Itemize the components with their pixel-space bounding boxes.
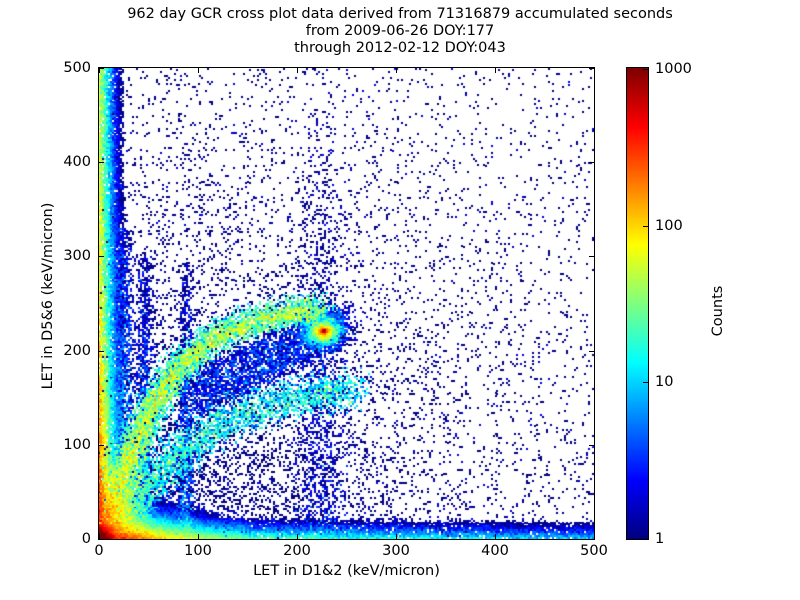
x-tick-mark	[198, 68, 199, 73]
x-tick-label: 300	[382, 543, 410, 559]
heatmap-scatter-layer	[99, 68, 594, 539]
colorbar-gradient	[627, 68, 648, 539]
colorbar-tick-label: 1000	[655, 61, 692, 77]
colorbar-tick-mark	[643, 382, 648, 383]
colorbar-tick-mark	[643, 539, 648, 540]
y-tick-mark	[99, 256, 104, 257]
colorbar-tick-mark	[643, 226, 648, 227]
colorbar	[626, 67, 649, 540]
x-tick-mark	[198, 534, 199, 539]
x-tick-mark	[297, 534, 298, 539]
y-tick-mark	[589, 539, 594, 540]
x-tick-label: 100	[184, 543, 212, 559]
y-tick-mark	[589, 256, 594, 257]
x-tick-mark	[297, 68, 298, 73]
x-axis-label: LET in D1&2 (keV/micron)	[98, 563, 595, 579]
y-tick-label: 500	[46, 60, 91, 76]
y-tick-mark	[99, 162, 104, 163]
y-tick-mark	[589, 351, 594, 352]
x-tick-label: 500	[580, 543, 608, 559]
y-tick-mark	[589, 68, 594, 69]
x-tick-mark	[495, 534, 496, 539]
colorbar-tick-label: 10	[655, 374, 673, 390]
chart-title: 962 day GCR cross plot data derived from…	[0, 6, 800, 57]
x-tick-label: 400	[481, 543, 509, 559]
chart-title-line-1: 962 day GCR cross plot data derived from…	[0, 6, 800, 23]
colorbar-label: Counts	[710, 221, 726, 401]
plot-area	[98, 67, 595, 540]
y-tick-mark	[99, 68, 104, 69]
colorbar-tick-label: 1	[655, 531, 664, 547]
x-tick-mark	[594, 534, 595, 539]
chart-title-line-2: from 2009-06-26 DOY:177	[0, 23, 800, 40]
y-tick-label: 0	[46, 531, 91, 547]
y-tick-mark	[99, 539, 104, 540]
y-tick-mark	[589, 445, 594, 446]
figure-canvas: 962 day GCR cross plot data derived from…	[0, 0, 800, 600]
x-tick-mark	[396, 68, 397, 73]
x-tick-mark	[495, 68, 496, 73]
x-tick-label: 0	[94, 543, 103, 559]
x-tick-mark	[594, 68, 595, 73]
y-tick-mark	[99, 445, 104, 446]
x-tick-mark	[396, 534, 397, 539]
y-axis-label: LET in D5&6 (keV/micron)	[40, 146, 56, 446]
y-tick-mark	[99, 351, 104, 352]
x-tick-label: 200	[283, 543, 311, 559]
colorbar-tick-label: 100	[655, 218, 683, 234]
chart-title-line-3: through 2012-02-12 DOY:043	[0, 40, 800, 57]
colorbar-tick-mark	[643, 69, 648, 70]
y-tick-mark	[589, 162, 594, 163]
